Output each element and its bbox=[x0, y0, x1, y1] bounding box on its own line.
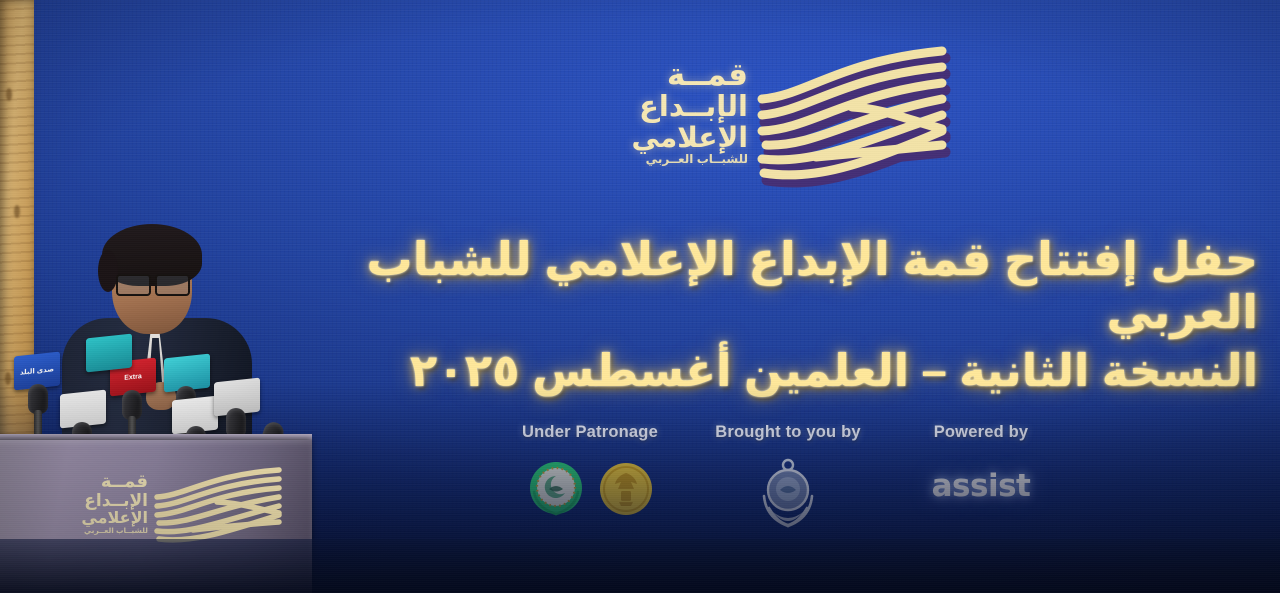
press-conference-photo: قمــة الإبــداع الإعلامي للشبــاب العــر… bbox=[0, 0, 1280, 593]
photo-vignette bbox=[0, 0, 1280, 593]
